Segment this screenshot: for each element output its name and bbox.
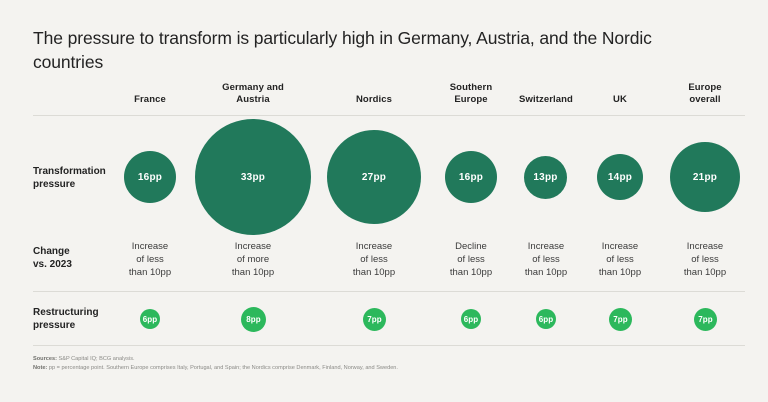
column-header-line1: France	[110, 94, 190, 106]
change-cell-nordics: Increase of less than 10pp	[334, 240, 414, 279]
change-line1: Increase	[213, 240, 293, 253]
change-line2: of more	[213, 253, 293, 266]
column-header-uk: UK	[580, 82, 660, 106]
footnote-note-label: Note:	[33, 365, 47, 371]
column-header-switzerland: Switzerland	[506, 82, 586, 106]
bubble-transformation-uk[interactable]: 14pp	[597, 154, 643, 200]
change-line3: than 10pp	[665, 266, 745, 279]
change-cell-switzerland: Increase of less than 10pp	[506, 240, 586, 279]
bubble-transformation-switzerland[interactable]: 13pp	[524, 156, 567, 199]
bubble-restructuring-europe-overall[interactable]: 7pp	[694, 308, 717, 331]
column-header-line1: Southern	[431, 82, 511, 94]
chart-page: The pressure to transform is particularl…	[0, 0, 768, 402]
row-label-change-vs-2023: Change vs. 2023	[33, 245, 128, 271]
bubble-restructuring-southern-europe[interactable]: 6pp	[461, 309, 481, 329]
bubble-restructuring-france[interactable]: 6pp	[140, 309, 160, 329]
footnote-note-text: pp = percentage point. Southern Europe c…	[47, 365, 398, 371]
bubble-transformation-southern-europe[interactable]: 16pp	[445, 151, 497, 203]
column-header-line1: Germany and	[213, 82, 293, 94]
column-header-line2: Austria	[213, 94, 293, 106]
footnote-sources-label: Sources:	[33, 356, 57, 362]
column-header-germany-austria: Germany and Austria	[213, 82, 293, 105]
column-header-europe-overall: Europe overall	[665, 82, 745, 105]
change-cell-uk: Increase of less than 10pp	[580, 240, 660, 279]
change-line1: Increase	[506, 240, 586, 253]
change-line3: than 10pp	[431, 266, 511, 279]
column-header-line1: UK	[580, 94, 660, 106]
bubble-transformation-france[interactable]: 16pp	[124, 151, 176, 203]
row-label-line1: Restructuring	[33, 306, 128, 319]
row-label-restructuring-pressure: Restructuring pressure	[33, 306, 128, 332]
change-line2: of less	[580, 253, 660, 266]
column-header-france: France	[110, 82, 190, 106]
change-cell-germany-austria: Increase of more than 10pp	[213, 240, 293, 279]
divider-top	[33, 115, 745, 116]
row-label-line2: pressure	[33, 178, 128, 191]
footnote-sources: Sources: S&P Capital IQ; BCG analysis.	[33, 355, 733, 364]
change-line1: Increase	[665, 240, 745, 253]
footnote-sources-text: S&P Capital IQ; BCG analysis.	[57, 356, 135, 362]
bubble-transformation-germany-austria[interactable]: 33pp	[195, 119, 311, 235]
row-label-line1: Change	[33, 245, 128, 258]
column-header-nordics: Nordics	[334, 82, 414, 106]
change-line2: of less	[665, 253, 745, 266]
column-header-line1: Europe	[665, 82, 745, 94]
row-label-transformation-pressure: Transformation pressure	[33, 165, 128, 191]
change-line3: than 10pp	[506, 266, 586, 279]
row-label-line2: vs. 2023	[33, 258, 128, 271]
bubble-transformation-europe-overall[interactable]: 21pp	[670, 142, 740, 212]
bubble-restructuring-nordics[interactable]: 7pp	[363, 308, 386, 331]
change-line2: of less	[334, 253, 414, 266]
change-line3: than 10pp	[580, 266, 660, 279]
row-label-line1: Transformation	[33, 165, 128, 178]
column-header-line1: Switzerland	[506, 94, 586, 106]
bubble-restructuring-uk[interactable]: 7pp	[609, 308, 632, 331]
bubble-transformation-nordics[interactable]: 27pp	[327, 130, 421, 224]
change-line1: Increase	[580, 240, 660, 253]
bubble-restructuring-germany-austria[interactable]: 8pp	[241, 307, 266, 332]
column-header-line2: overall	[665, 94, 745, 106]
column-header-line2: Europe	[431, 94, 511, 106]
footnotes: Sources: S&P Capital IQ; BCG analysis. N…	[33, 355, 733, 373]
divider-middle	[33, 291, 745, 292]
row-label-line2: pressure	[33, 319, 128, 332]
page-title: The pressure to transform is particularl…	[33, 26, 693, 74]
change-line2: of less	[431, 253, 511, 266]
change-cell-southern-europe: Decline of less than 10pp	[431, 240, 511, 279]
change-line1: Increase	[334, 240, 414, 253]
change-line1: Decline	[431, 240, 511, 253]
change-cell-europe-overall: Increase of less than 10pp	[665, 240, 745, 279]
change-line3: than 10pp	[213, 266, 293, 279]
column-headers: France Germany and Austria Nordics South…	[110, 82, 750, 112]
column-header-southern-europe: Southern Europe	[431, 82, 511, 105]
column-header-line1: Nordics	[334, 94, 414, 106]
footnote-note: Note: pp = percentage point. Southern Eu…	[33, 364, 733, 373]
bubble-restructuring-switzerland[interactable]: 6pp	[536, 309, 556, 329]
change-line2: of less	[506, 253, 586, 266]
change-line3: than 10pp	[334, 266, 414, 279]
divider-bottom	[33, 345, 745, 346]
